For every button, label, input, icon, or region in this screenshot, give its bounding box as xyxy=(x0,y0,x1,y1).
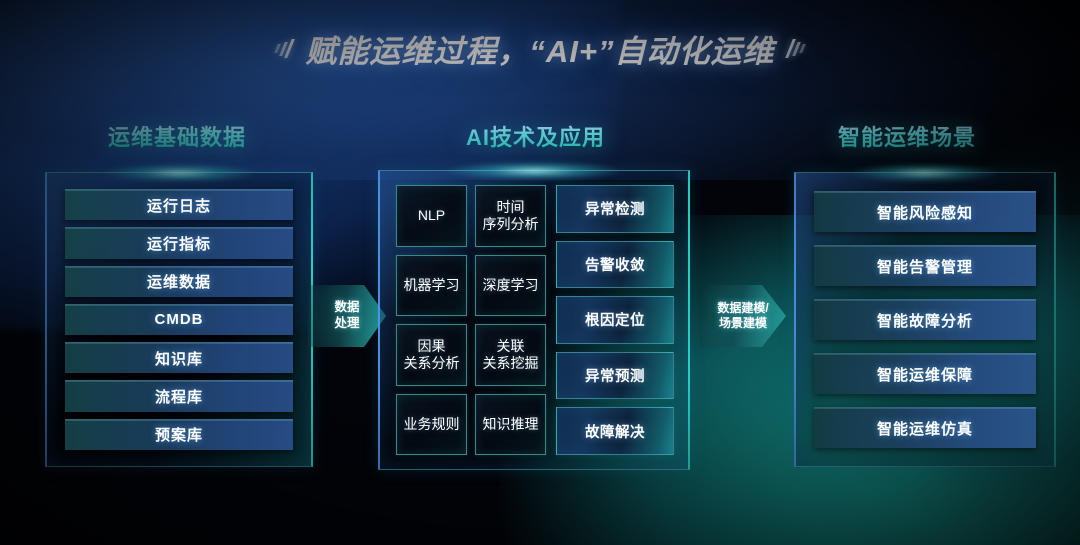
arrow-label-line2: 处理 xyxy=(334,316,359,332)
list-item[interactable]: 告警收敛 xyxy=(556,241,674,289)
grid-item[interactable]: NLP xyxy=(396,185,467,247)
list-item[interactable]: 异常预测 xyxy=(556,352,674,400)
list-item[interactable]: 智能风险感知 xyxy=(814,191,1036,232)
grid-item[interactable]: 知识推理 xyxy=(475,394,546,456)
panel-ai-tech-apps: NLP 时间序列分析 机器学习 深度学习 因果关系分析 关联关系挖掘 业务规则 … xyxy=(378,170,690,470)
list-item[interactable]: 预案库 xyxy=(65,419,293,450)
column-header-aiops-scenarios: 智能运维场景 xyxy=(838,120,976,152)
list-item[interactable]: CMDB xyxy=(65,304,293,335)
title-left-slashes-icon xyxy=(276,36,291,62)
slide-title-bar: 赋能运维过程，“AI+”自动化运维 xyxy=(0,26,1080,71)
page-title: 赋能运维过程，“AI+”自动化运维 xyxy=(305,26,774,71)
slide-canvas: 赋能运维过程，“AI+”自动化运维 运维基础数据 AI技术及应用 智能运维场景 … xyxy=(0,0,1080,545)
ai-techniques-grid: NLP 时间序列分析 机器学习 深度学习 因果关系分析 关联关系挖掘 业务规则 … xyxy=(396,185,546,455)
title-right-slashes-icon xyxy=(789,36,804,62)
column-header-ai-tech-apps: AI技术及应用 xyxy=(466,120,605,152)
panel-aiops-scenarios: 智能风险感知 智能告警管理 智能故障分析 智能运维保障 智能运维仿真 xyxy=(794,172,1056,467)
list-item[interactable]: 运行指标 xyxy=(65,227,293,258)
ai-applications-list: 异常检测 告警收敛 根因定位 异常预测 故障解决 xyxy=(556,185,674,455)
list-item[interactable]: 流程库 xyxy=(65,380,293,411)
list-item[interactable]: 智能故障分析 xyxy=(814,299,1036,340)
arrow-label-line1: 数据建模/ xyxy=(717,301,768,316)
list-item[interactable]: 知识库 xyxy=(65,342,293,373)
arrow-label-line1: 数据 xyxy=(334,300,359,316)
list-item[interactable]: 智能告警管理 xyxy=(814,245,1036,286)
list-item[interactable]: 运维数据 xyxy=(65,266,293,297)
ai-tech-apps-body: NLP 时间序列分析 机器学习 深度学习 因果关系分析 关联关系挖掘 业务规则 … xyxy=(380,171,688,469)
grid-item[interactable]: 业务规则 xyxy=(396,394,467,456)
grid-item[interactable]: 关联关系挖掘 xyxy=(475,324,546,386)
list-item[interactable]: 异常检测 xyxy=(556,185,674,233)
panel-ops-base-data: 运行日志 运行指标 运维数据 CMDB 知识库 流程库 预案库 xyxy=(45,172,313,467)
grid-item[interactable]: 因果关系分析 xyxy=(396,324,467,386)
list-item[interactable]: 智能运维保障 xyxy=(814,353,1036,394)
list-item[interactable]: 运行日志 xyxy=(65,189,293,220)
list-item[interactable]: 智能运维仿真 xyxy=(814,407,1036,448)
aiops-scenarios-list: 智能风险感知 智能告警管理 智能故障分析 智能运维保障 智能运维仿真 xyxy=(796,173,1054,466)
list-item[interactable]: 根因定位 xyxy=(556,296,674,344)
arrow-label-line2: 场景建模 xyxy=(719,316,767,331)
grid-item[interactable]: 深度学习 xyxy=(475,255,546,317)
grid-item[interactable]: 机器学习 xyxy=(396,255,467,317)
column-header-ops-base-data: 运维基础数据 xyxy=(108,120,246,152)
grid-item[interactable]: 时间序列分析 xyxy=(475,185,546,247)
list-item[interactable]: 故障解决 xyxy=(556,407,674,455)
ops-base-data-list: 运行日志 运行指标 运维数据 CMDB 知识库 流程库 预案库 xyxy=(47,173,311,466)
